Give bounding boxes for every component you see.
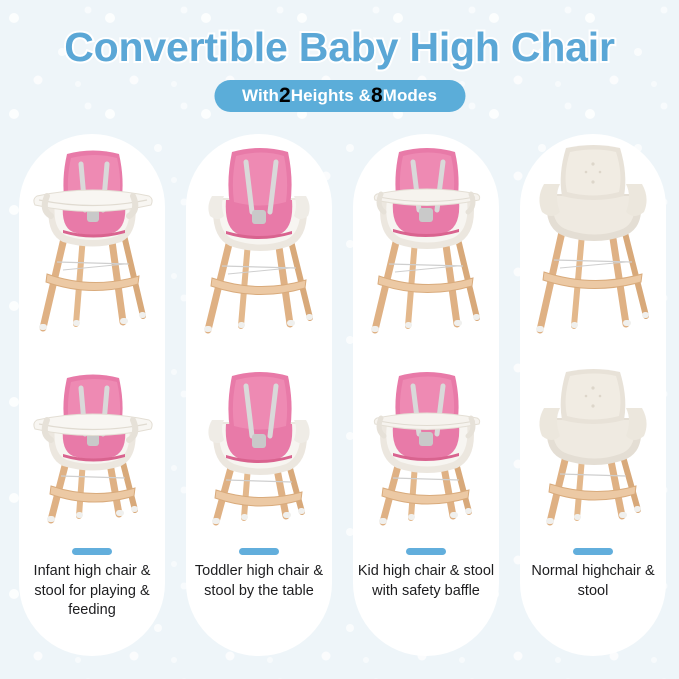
- card-caption-normal: Normal highchair & stool: [524, 562, 662, 601]
- page-title: Convertible Baby High Chair: [0, 24, 679, 70]
- card-caption-infant: Infant high chair & stool for playing & …: [23, 562, 161, 621]
- chair-image-normal-short: [520, 362, 666, 542]
- feature-card-kid[interactable]: Kid high chair & stool with safety baffl…: [353, 134, 499, 656]
- card-caption-kid: Kid high chair & stool with safety baffl…: [357, 562, 495, 601]
- chair-image-infant-tall: [19, 138, 165, 353]
- subtitle-badge: With 2 Heights & 8 Modes: [214, 80, 465, 112]
- subtitle-suffix: Modes: [383, 86, 437, 106]
- chair-image-kid-tall: [353, 138, 499, 353]
- subtitle-heights-count: 2: [279, 84, 291, 108]
- subtitle-middle: Heights &: [291, 86, 371, 106]
- card-divider-normal: [573, 548, 613, 555]
- feature-card-infant[interactable]: Infant high chair & stool for playing & …: [19, 134, 165, 656]
- chair-image-infant-short: [19, 362, 165, 542]
- header: Convertible Baby High Chair With 2 Heigh…: [0, 0, 679, 128]
- chair-image-toddler-tall: [186, 138, 332, 353]
- card-divider-infant: [72, 548, 112, 555]
- card-caption-toddler: Toddler high chair & stool by the table: [190, 562, 328, 601]
- chair-image-kid-short: [353, 362, 499, 542]
- chair-image-toddler-short: [186, 362, 332, 542]
- subtitle-modes-count: 8: [371, 84, 383, 108]
- subtitle-prefix: With: [242, 86, 279, 106]
- chair-image-normal-tall: [520, 138, 666, 353]
- feature-card-toddler[interactable]: Toddler high chair & stool by the table: [186, 134, 332, 656]
- card-divider-toddler: [239, 548, 279, 555]
- feature-card-normal[interactable]: Normal highchair & stool: [520, 134, 666, 656]
- card-divider-kid: [406, 548, 446, 555]
